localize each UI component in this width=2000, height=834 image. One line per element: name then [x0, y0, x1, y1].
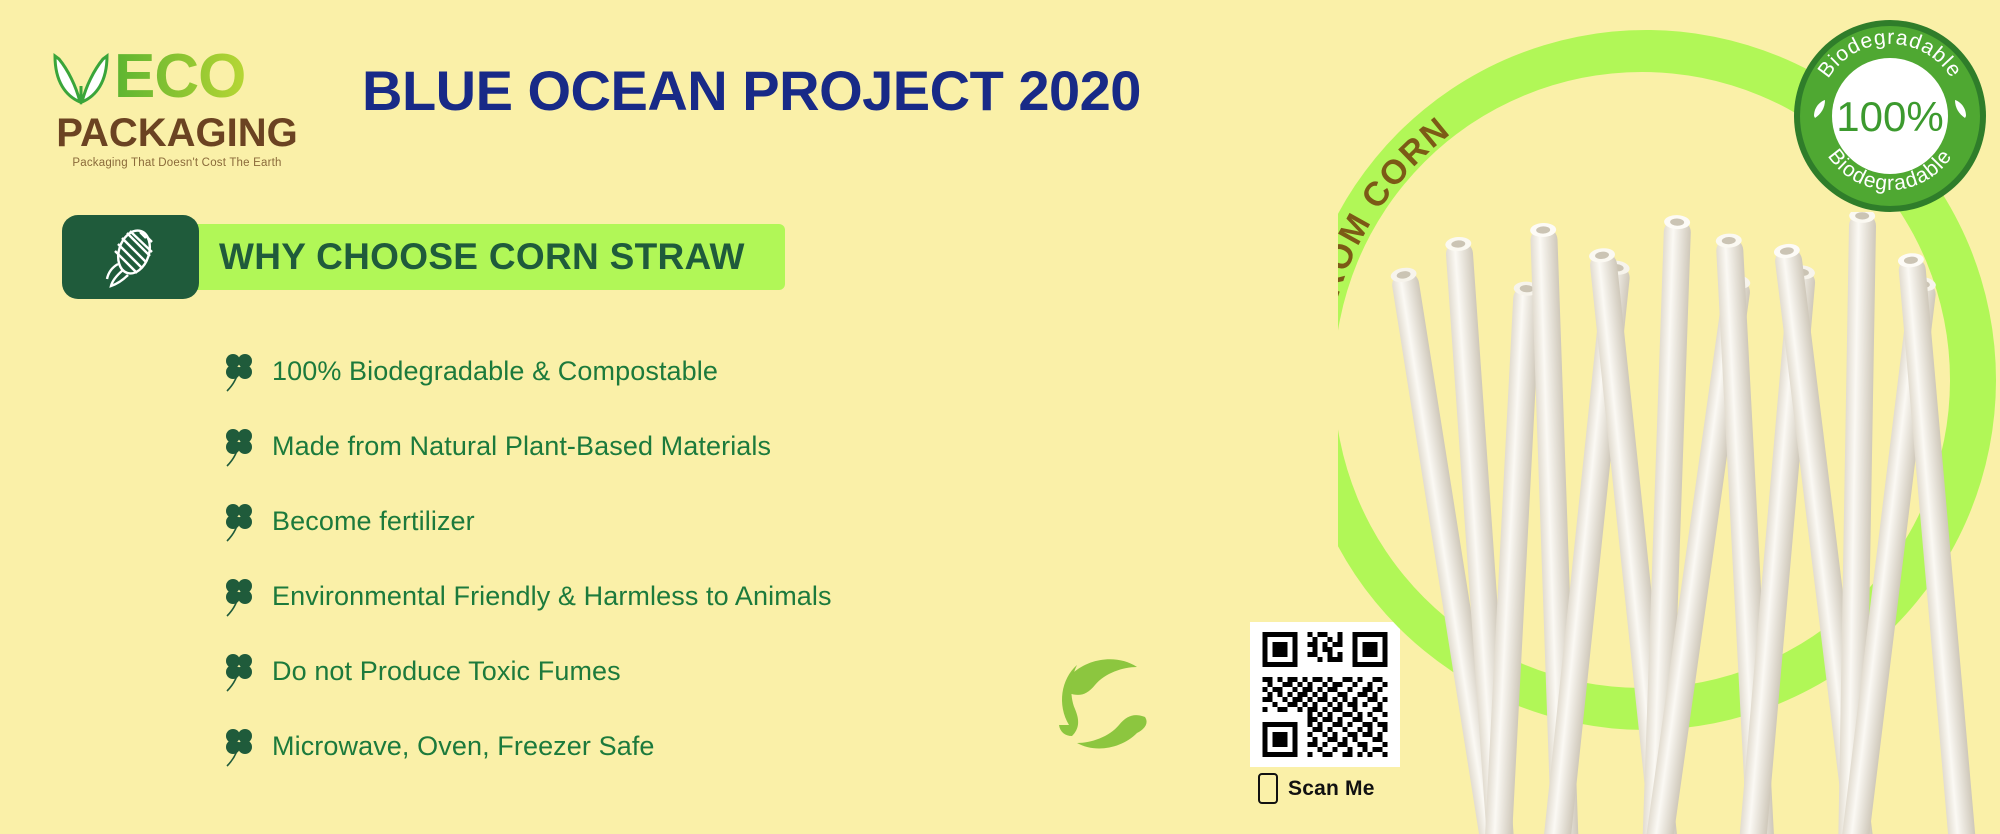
section-header: WHY CHOOSE CORN STRAW: [62, 215, 785, 299]
four-leaf-clover-icon: [222, 652, 256, 692]
feature-list: 100% Biodegradable & Compostable Made fr…: [222, 350, 832, 800]
brand-logo: ECO PACKAGING Packaging That Doesn't Cos…: [52, 38, 302, 168]
logo-tagline: Packaging That Doesn't Cost The Earth: [52, 157, 302, 169]
four-leaf-clover-icon: [222, 577, 256, 617]
leaf-icon: [52, 46, 110, 108]
page-title: BLUE OCEAN PROJECT 2020: [362, 58, 1141, 123]
list-item-label: Do not Produce Toxic Fumes: [272, 656, 621, 687]
corn-cob-icon: [104, 226, 158, 288]
section-header-bar: WHY CHOOSE CORN STRAW: [189, 224, 785, 290]
list-item-label: Made from Natural Plant-Based Materials: [272, 431, 771, 462]
eco-packaging-banner: ECO PACKAGING Packaging That Doesn't Cos…: [0, 0, 2000, 834]
badge-center-label: 100%: [1836, 93, 1943, 140]
corn-icon-tile: [62, 215, 199, 299]
four-leaf-clover-icon: [222, 352, 256, 392]
paper-straws-photo: [1338, 212, 2000, 834]
logo-primary-row: ECO: [52, 38, 302, 116]
list-item: Made from Natural Plant-Based Materials: [222, 425, 832, 468]
four-leaf-clover-icon: [222, 427, 256, 467]
list-item: 100% Biodegradable & Compostable: [222, 350, 832, 393]
recycle-leaves-icon: [1053, 637, 1176, 760]
list-item: Environmental Friendly & Harmless to Ani…: [222, 575, 832, 618]
list-item: Microwave, Oven, Freezer Safe: [222, 725, 832, 768]
list-item: Do not Produce Toxic Fumes: [222, 650, 832, 693]
mobile-phone-icon: [1258, 773, 1278, 804]
logo-packaging-text: PACKAGING: [52, 112, 302, 154]
list-item-label: Become fertilizer: [272, 506, 475, 537]
list-item-label: 100% Biodegradable & Compostable: [272, 356, 718, 387]
logo-eco-text: ECO: [114, 48, 245, 106]
status-badge: Biodegradable Biodegradable 100%: [1792, 18, 1988, 214]
section-header-label: WHY CHOOSE CORN STRAW: [219, 236, 745, 278]
four-leaf-clover-icon: [222, 502, 256, 542]
product-artwork: MADE FROM CORN: [1338, 0, 2000, 834]
list-item: Become fertilizer: [222, 500, 832, 543]
list-item-label: Microwave, Oven, Freezer Safe: [272, 731, 655, 762]
four-leaf-clover-icon: [222, 727, 256, 767]
list-item-label: Environmental Friendly & Harmless to Ani…: [272, 581, 832, 612]
